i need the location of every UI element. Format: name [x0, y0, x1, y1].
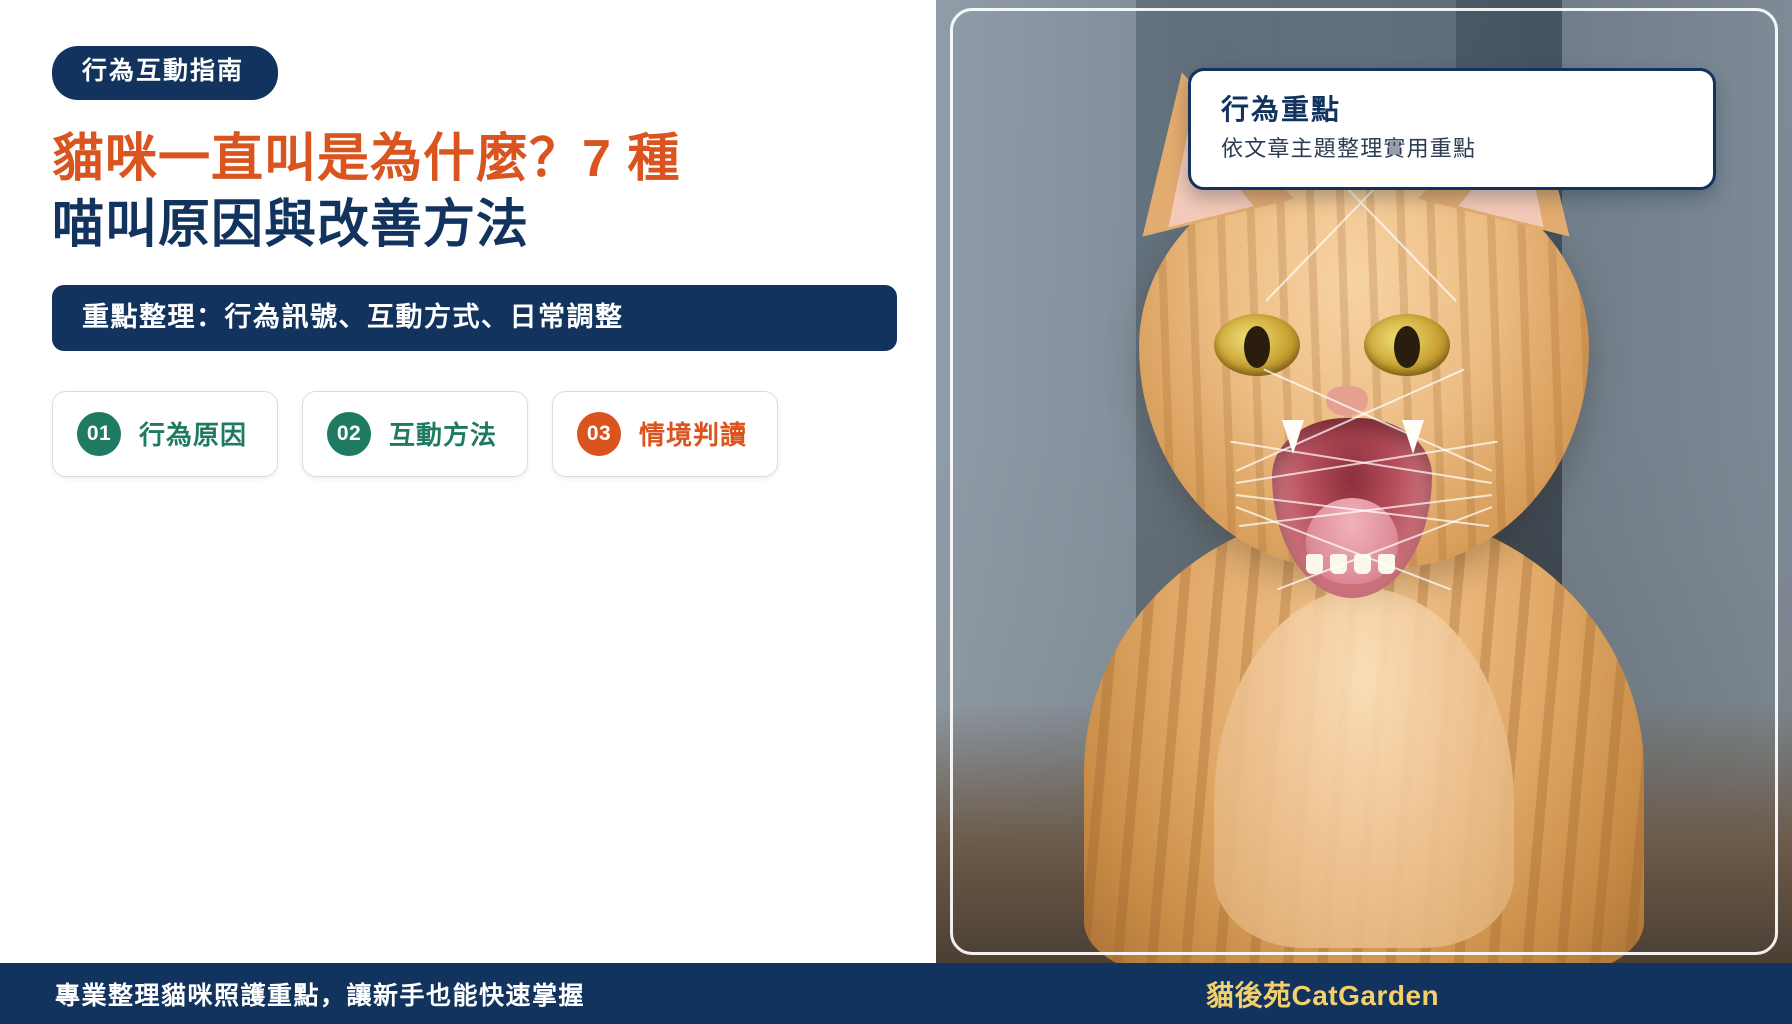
highlight-card-subtitle: 依文章主題整理實用重點	[1221, 135, 1687, 164]
page-title: 貓咪一直叫是為什麼？7 種 喵叫原因與改善方法	[52, 126, 936, 259]
topic-chip-02[interactable]: 02 互動方法	[302, 391, 528, 477]
cat-pupil-right	[1394, 326, 1420, 368]
behavior-highlight-card[interactable]: 行為重點 依文章主題整理實用重點	[1188, 68, 1716, 190]
topic-chip-01[interactable]: 01 行為原因	[52, 391, 278, 477]
cat-pupil-left	[1244, 326, 1270, 368]
topic-chip-03[interactable]: 03 情境判讀	[552, 391, 778, 477]
page-title-line-1: 貓咪一直叫是為什麼？7 種	[52, 126, 936, 193]
chip-label-01: 行為原因	[139, 415, 247, 452]
chip-number-badge-01: 01	[77, 412, 121, 456]
chip-number-badge-02: 02	[327, 412, 371, 456]
cover-canvas: 行為互動指南 貓咪一直叫是為什麼？7 種 喵叫原因與改善方法 重點整理：行為訊號…	[0, 0, 1792, 1024]
cat-illustration	[1034, 118, 1694, 963]
subtitle-bar: 重點整理：行為訊號、互動方式、日常調整	[52, 285, 897, 351]
page-title-line-2: 喵叫原因與改善方法	[52, 192, 936, 259]
left-content-pane: 行為互動指南 貓咪一直叫是為什麼？7 種 喵叫原因與改善方法 重點整理：行為訊號…	[0, 0, 936, 963]
footer-bar: 專業整理貓咪照護重點，讓新手也能快速掌握 貓後苑CatGarden	[0, 963, 1792, 1024]
footer-brand-name: 貓後苑CatGarden	[1206, 974, 1439, 1014]
footer-tagline: 專業整理貓咪照護重點，讓新手也能快速掌握	[55, 976, 585, 1012]
highlight-card-title: 行為重點	[1221, 93, 1687, 127]
eyebrow-badge: 行為互動指南	[52, 46, 278, 100]
chip-label-02: 互動方法	[389, 415, 497, 452]
chip-number-badge-03: 03	[577, 412, 621, 456]
topic-chip-row: 01 行為原因 02 互動方法 03 情境判讀	[52, 391, 936, 477]
chip-label-03: 情境判讀	[639, 415, 747, 452]
